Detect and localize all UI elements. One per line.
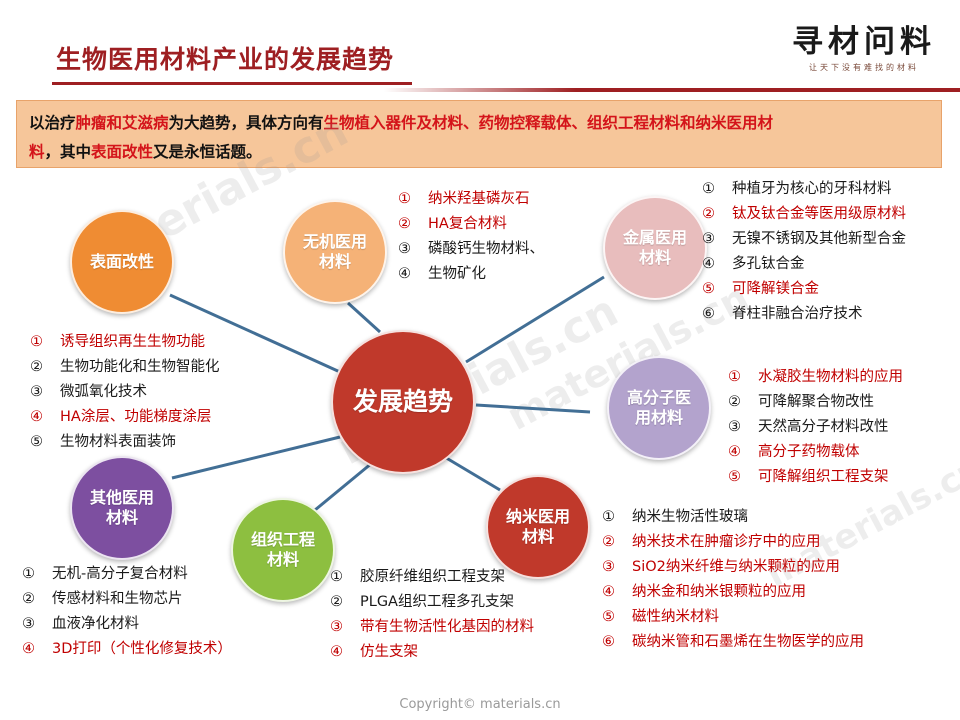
- list-item-text: 碳纳米管和石墨烯在生物医学的应用: [632, 630, 864, 655]
- list-item: ③天然高分子材料改性: [728, 415, 903, 440]
- list-item-number: ⑥: [702, 302, 732, 327]
- list-item: ②钛及钛合金等医用级原材料: [702, 202, 906, 227]
- node-polymer-label: 高分子医用材料: [627, 388, 691, 428]
- list-item-number: ④: [398, 262, 428, 287]
- list-item-number: ③: [702, 227, 732, 252]
- list-item: ①诱导组织再生生物功能: [30, 330, 220, 355]
- list-item: ③微弧氧化技术: [30, 380, 220, 405]
- list-item-text: 生物功能化和生物智能化: [60, 355, 220, 380]
- list-item: ②纳米技术在肿瘤诊疗中的应用: [602, 530, 864, 555]
- list-item-number: ③: [602, 555, 632, 580]
- list-item-number: ②: [728, 390, 758, 415]
- node-center[interactable]: 发展趋势: [331, 330, 475, 474]
- list-item-number: ⑤: [702, 277, 732, 302]
- list-item-text: 传感材料和生物芯片: [52, 587, 183, 612]
- list-item-text: 种植牙为核心的牙科材料: [732, 177, 892, 202]
- list-item: ③SiO2纳米纤维与纳米颗粒的应用: [602, 555, 864, 580]
- list-item-number: ②: [602, 530, 632, 555]
- list-item: ⑤可降解组织工程支架: [728, 465, 903, 490]
- list-item-number: ③: [30, 380, 60, 405]
- list-item-text: 钛及钛合金等医用级原材料: [732, 202, 906, 227]
- list-item: ④多孔钛合金: [702, 252, 906, 277]
- list-item-text: 水凝胶生物材料的应用: [758, 365, 903, 390]
- list-item-number: ②: [22, 587, 52, 612]
- node-tissue[interactable]: 组织工程材料: [231, 498, 335, 602]
- list-item-number: ④: [330, 640, 360, 665]
- list-item-number: ①: [398, 187, 428, 212]
- list-item-text: 多孔钛合金: [732, 252, 805, 277]
- node-surface-label: 表面改性: [90, 252, 154, 272]
- list-item: ⑥脊柱非融合治疗技术: [702, 302, 906, 327]
- node-surface[interactable]: 表面改性: [70, 210, 174, 314]
- list-item-text: HA涂层、功能梯度涂层: [60, 405, 211, 430]
- list-item-text: 胶原纤维组织工程支架: [360, 565, 505, 590]
- list-item-text: 纳米羟基磷灰石: [428, 187, 530, 212]
- list-polymer: ①水凝胶生物材料的应用②可降解聚合物改性③天然高分子材料改性④高分子药物载体⑤可…: [728, 365, 903, 490]
- list-item: ①种植牙为核心的牙科材料: [702, 177, 906, 202]
- list-item-text: 磷酸钙生物材料、: [428, 237, 544, 262]
- list-item-number: ②: [702, 202, 732, 227]
- list-item-text: 磁性纳米材料: [632, 605, 719, 630]
- list-item: ②传感材料和生物芯片: [22, 587, 232, 612]
- list-item-number: ①: [602, 505, 632, 530]
- list-item-number: ⑤: [30, 430, 60, 455]
- list-inorganic: ①纳米羟基磷灰石②HA复合材料③磷酸钙生物材料、④生物矿化: [398, 187, 544, 287]
- list-item-number: ③: [22, 612, 52, 637]
- list-item-text: 3D打印（个性化修复技术）: [52, 637, 232, 662]
- list-item: ⑥碳纳米管和石墨烯在生物医学的应用: [602, 630, 864, 655]
- list-item: ③磷酸钙生物材料、: [398, 237, 544, 262]
- list-item: ③带有生物活性化基因的材料: [330, 615, 534, 640]
- node-center-label: 发展趋势: [353, 386, 453, 417]
- list-metal: ①种植牙为核心的牙科材料②钛及钛合金等医用级原材料③无镍不锈钢及其他新型合金④多…: [702, 177, 906, 327]
- list-item-text: 带有生物活性化基因的材料: [360, 615, 534, 640]
- list-item-number: ④: [30, 405, 60, 430]
- list-item-text: 无镍不锈钢及其他新型合金: [732, 227, 906, 252]
- list-item-text: 血液净化材料: [52, 612, 139, 637]
- list-item-text: 纳米金和纳米银颗粒的应用: [632, 580, 806, 605]
- list-item-text: PLGA组织工程多孔支架: [360, 590, 514, 615]
- list-item: ②生物功能化和生物智能化: [30, 355, 220, 380]
- list-item: ④高分子药物载体: [728, 440, 903, 465]
- list-item-text: 诱导组织再生生物功能: [60, 330, 205, 355]
- list-item: ⑤磁性纳米材料: [602, 605, 864, 630]
- list-item: ②可降解聚合物改性: [728, 390, 903, 415]
- list-item-text: 无机-高分子复合材料: [52, 562, 188, 587]
- node-metal-label: 金属医用材料: [623, 228, 687, 268]
- node-inorganic-label: 无机医用材料: [303, 232, 367, 272]
- list-nano: ①纳米生物活性玻璃②纳米技术在肿瘤诊疗中的应用③SiO2纳米纤维与纳米颗粒的应用…: [602, 505, 864, 655]
- list-item-text: 脊柱非融合治疗技术: [732, 302, 863, 327]
- list-item: ④纳米金和纳米银颗粒的应用: [602, 580, 864, 605]
- list-item-number: ①: [330, 565, 360, 590]
- list-item: ⑤可降解镁合金: [702, 277, 906, 302]
- node-other-label: 其他医用材料: [90, 488, 154, 528]
- list-item-number: ③: [728, 415, 758, 440]
- list-item: ③无镍不锈钢及其他新型合金: [702, 227, 906, 252]
- list-item: ④生物矿化: [398, 262, 544, 287]
- list-item-text: 仿生支架: [360, 640, 418, 665]
- node-nano-label: 纳米医用材料: [506, 507, 570, 547]
- list-item: ①纳米生物活性玻璃: [602, 505, 864, 530]
- list-tissue: ①胶原纤维组织工程支架②PLGA组织工程多孔支架③带有生物活性化基因的材料④仿生…: [330, 565, 534, 665]
- list-item-number: ⑤: [602, 605, 632, 630]
- list-item-number: ①: [728, 365, 758, 390]
- list-item-number: ③: [398, 237, 428, 262]
- list-item-text: 微弧氧化技术: [60, 380, 147, 405]
- list-item-text: 高分子药物载体: [758, 440, 860, 465]
- list-item-text: 生物材料表面装饰: [60, 430, 176, 455]
- list-item-number: ①: [22, 562, 52, 587]
- list-item: ④HA涂层、功能梯度涂层: [30, 405, 220, 430]
- list-item: ②HA复合材料: [398, 212, 544, 237]
- list-item: ①胶原纤维组织工程支架: [330, 565, 534, 590]
- list-item: ④仿生支架: [330, 640, 534, 665]
- list-item-text: 可降解组织工程支架: [758, 465, 889, 490]
- node-inorganic[interactable]: 无机医用材料: [283, 200, 387, 304]
- list-item-text: HA复合材料: [428, 212, 507, 237]
- list-item-number: ④: [22, 637, 52, 662]
- infographic-page: 生物医用材料产业的发展趋势 寻材问料 让天下没有难找的材料 以治疗肿瘤和艾滋病为…: [0, 0, 960, 720]
- list-item-number: ①: [30, 330, 60, 355]
- list-item: ③血液净化材料: [22, 612, 232, 637]
- node-metal[interactable]: 金属医用材料: [603, 196, 707, 300]
- list-item-number: ①: [702, 177, 732, 202]
- list-item-text: 纳米技术在肿瘤诊疗中的应用: [632, 530, 821, 555]
- node-other[interactable]: 其他医用材料: [70, 456, 174, 560]
- list-item-number: ⑤: [728, 465, 758, 490]
- list-item-text: 纳米生物活性玻璃: [632, 505, 748, 530]
- list-item-text: 生物矿化: [428, 262, 486, 287]
- node-nano[interactable]: 纳米医用材料: [486, 475, 590, 579]
- list-item-number: ⑥: [602, 630, 632, 655]
- list-item: ①水凝胶生物材料的应用: [728, 365, 903, 390]
- list-item-number: ③: [330, 615, 360, 640]
- list-item-number: ②: [330, 590, 360, 615]
- list-item-text: 天然高分子材料改性: [758, 415, 889, 440]
- list-item-number: ②: [30, 355, 60, 380]
- list-item: ①纳米羟基磷灰石: [398, 187, 544, 212]
- list-item: ①无机-高分子复合材料: [22, 562, 232, 587]
- list-item-number: ④: [728, 440, 758, 465]
- list-other: ①无机-高分子复合材料②传感材料和生物芯片③血液净化材料④3D打印（个性化修复技…: [22, 562, 232, 662]
- list-surface: ①诱导组织再生生物功能②生物功能化和生物智能化③微弧氧化技术④HA涂层、功能梯度…: [30, 330, 220, 455]
- list-item-text: SiO2纳米纤维与纳米颗粒的应用: [632, 555, 840, 580]
- list-item: ④3D打印（个性化修复技术）: [22, 637, 232, 662]
- list-item-number: ④: [602, 580, 632, 605]
- list-item-number: ④: [702, 252, 732, 277]
- node-polymer[interactable]: 高分子医用材料: [607, 356, 711, 460]
- list-item: ②PLGA组织工程多孔支架: [330, 590, 534, 615]
- list-item-number: ②: [398, 212, 428, 237]
- list-item-text: 可降解聚合物改性: [758, 390, 874, 415]
- footer-copyright: Copyright© materials.cn: [0, 697, 960, 712]
- list-item-text: 可降解镁合金: [732, 277, 819, 302]
- node-tissue-label: 组织工程材料: [251, 530, 315, 570]
- list-item: ⑤生物材料表面装饰: [30, 430, 220, 455]
